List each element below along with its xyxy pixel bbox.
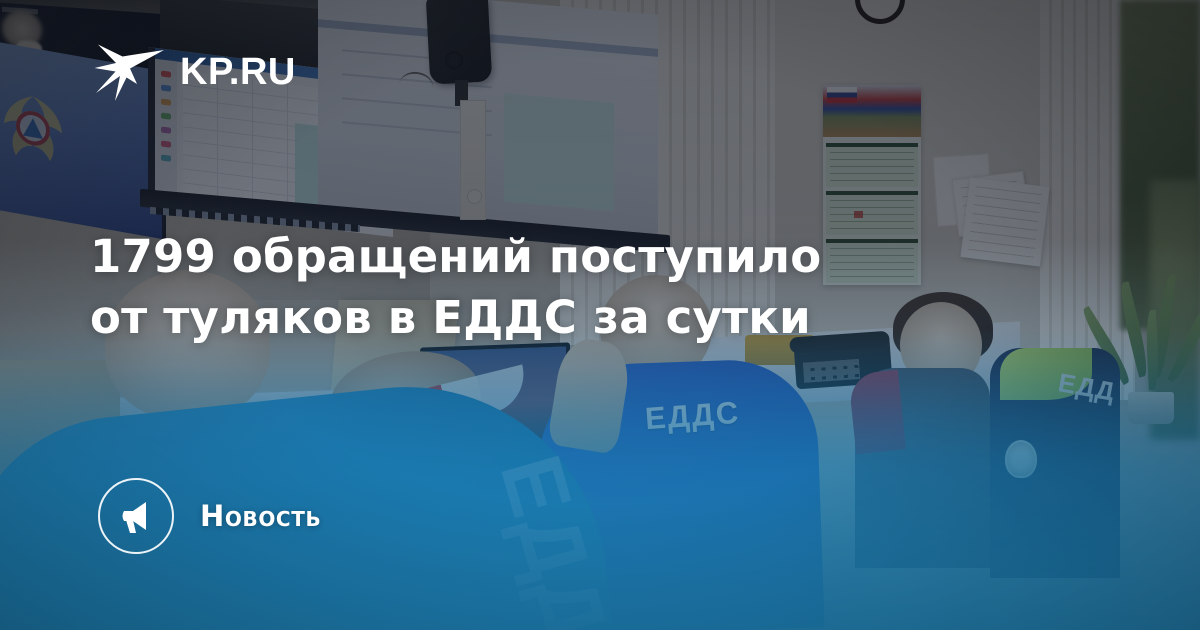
brand-logo[interactable]: KP.RU — [92, 38, 296, 106]
badge-label: Новость — [200, 499, 321, 533]
swallow-bird-icon — [92, 38, 166, 106]
megaphone-icon — [98, 478, 174, 554]
card-content: KP.RU 1799 обращений поступило от туляко… — [0, 0, 1200, 630]
headline-line-2: от туляков в ЕДДС за сутки — [90, 291, 811, 344]
headline-line-1: 1799 обращений поступило — [90, 230, 821, 283]
page-title: 1799 обращений поступило от туляков в ЕД… — [90, 226, 990, 348]
news-share-card: ЕДД ЕДДС ЕДДС KP.RU 1799 обращений посту… — [0, 0, 1200, 630]
brand-name: KP.RU — [180, 53, 296, 91]
status-badge[interactable]: Новость — [98, 478, 321, 554]
